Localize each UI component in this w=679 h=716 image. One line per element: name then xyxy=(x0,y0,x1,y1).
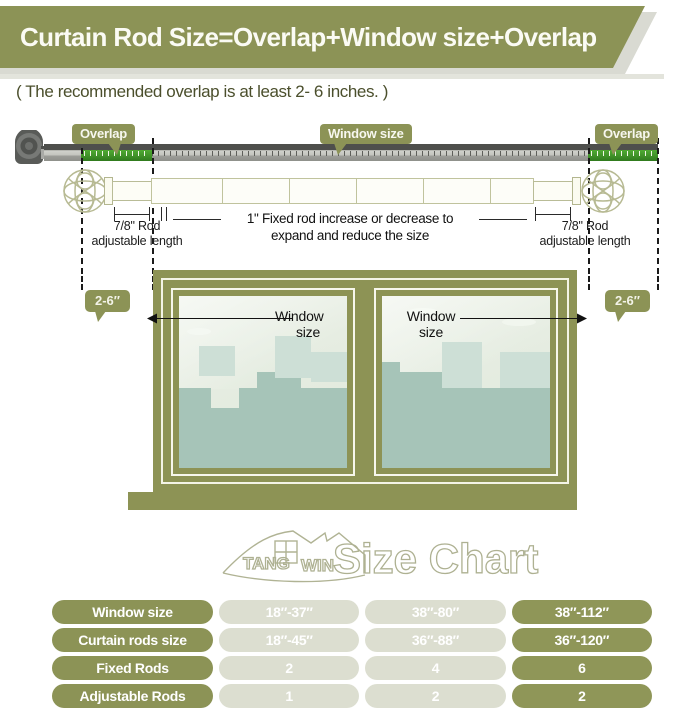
guide-line-lower-left-a xyxy=(81,268,83,290)
rod-segment-2 xyxy=(222,178,290,204)
window-size-label-right: Window size xyxy=(398,308,464,340)
callout-window-size-top-label: Window size xyxy=(328,126,404,141)
window-size-leader-left xyxy=(152,318,292,319)
table-cell: 2 xyxy=(512,684,652,708)
rod-segment-4 xyxy=(356,178,424,204)
callout-tail xyxy=(95,311,106,322)
table-row-header: Curtain rods size xyxy=(52,628,213,652)
arrow-right-icon xyxy=(575,313,587,324)
callout-tail xyxy=(334,143,347,155)
table-row: Window size18″-37″38″-80″38″-112″ xyxy=(52,600,652,624)
rod-segment-5 xyxy=(423,178,491,204)
callout-tail xyxy=(108,143,121,155)
window-size-label-left-line1: Window xyxy=(275,308,365,324)
logo-brand-right: WIN xyxy=(301,556,334,575)
label-fixed-rod-line2: expand and reduce the size xyxy=(215,227,485,244)
callout-overlap-right-label: Overlap xyxy=(603,126,650,141)
house-logo-icon: TANG WIN Size Chart xyxy=(215,525,545,587)
label-adjustable-left-line1: 7/8" Rod xyxy=(62,219,212,234)
banner-ribbon: Curtain Rod Size=Overlap+Window size+Ove… xyxy=(0,6,645,68)
window-size-label-right-line2: size xyxy=(398,324,464,340)
page-title: Curtain Rod Size=Overlap+Window size+Ove… xyxy=(0,22,597,53)
table-cell: 38″-80″ xyxy=(365,600,505,624)
table-cell: 38″-112″ xyxy=(512,600,652,624)
label-fixed-rod-line1: 1" Fixed rod increase or decrease to xyxy=(215,210,485,227)
table-cell: 36″-88″ xyxy=(365,628,505,652)
table-cell: 1 xyxy=(219,684,359,708)
callout-gap-right: 2-6″ xyxy=(605,290,650,312)
table-cell: 36″-120″ xyxy=(512,628,652,652)
dim-line-left xyxy=(114,214,150,215)
table-cell: 4 xyxy=(365,656,505,680)
callout-gap-left: 2-6″ xyxy=(85,290,130,312)
logo-title: Size Chart xyxy=(333,535,538,582)
finial-left-icon xyxy=(62,168,108,214)
rod-segment-1 xyxy=(151,178,223,204)
callout-tail xyxy=(609,143,622,155)
guide-line-lower-right-b xyxy=(657,268,659,290)
dim-line-right xyxy=(535,214,571,215)
fixed-rod-leader-right xyxy=(479,219,527,220)
callout-gap-left-label: 2-6″ xyxy=(95,293,120,308)
rod-adjustable-right xyxy=(533,181,573,201)
table-cell: 2 xyxy=(365,684,505,708)
label-adjustable-right: 7/8" Rod adjustable length xyxy=(510,219,660,249)
rod-segment-3 xyxy=(289,178,357,204)
callout-overlap-right: Overlap xyxy=(595,124,658,144)
label-adjustable-right-line1: 7/8" Rod xyxy=(510,219,660,234)
table-row: Adjustable Rods122 xyxy=(52,684,652,708)
guide-line-lower-right-a xyxy=(588,268,590,290)
table-cell: 6 xyxy=(512,656,652,680)
label-adjustable-left: 7/8" Rod adjustable length xyxy=(62,219,212,249)
table-cell: 18″-37″ xyxy=(219,600,359,624)
subtitle-text: ( The recommended overlap is at least 2-… xyxy=(16,82,388,102)
logo-brand-left: TANG xyxy=(243,554,290,573)
callout-tail xyxy=(615,311,626,322)
size-chart-table: Window size18″-37″38″-80″38″-112″Curtain… xyxy=(52,600,652,712)
table-cell: 2 xyxy=(219,656,359,680)
window-sill xyxy=(128,492,577,510)
table-row: Curtain rods size18″-45″36″-88″36″-120″ xyxy=(52,628,652,652)
label-adjustable-right-line2: adjustable length xyxy=(510,234,660,249)
table-row-header: Window size xyxy=(52,600,213,624)
table-row-header: Fixed Rods xyxy=(52,656,213,680)
rod-adjustable-left xyxy=(112,181,152,201)
label-adjustable-left-line2: adjustable length xyxy=(62,234,212,249)
brand-logo: TANG WIN Size Chart xyxy=(215,525,545,587)
header-banner: Curtain Rod Size=Overlap+Window size+Ove… xyxy=(0,6,679,68)
callout-gap-right-label: 2-6″ xyxy=(615,293,640,308)
table-row-header: Adjustable Rods xyxy=(52,684,213,708)
table-row: Fixed Rods246 xyxy=(52,656,652,680)
window-size-label-left: Window size xyxy=(275,308,365,340)
tape-overlap-right-highlight xyxy=(588,150,658,161)
arrow-left-icon xyxy=(147,313,159,324)
label-fixed-rod: 1" Fixed rod increase or decrease to exp… xyxy=(215,210,485,244)
window-size-label-left-line2: size xyxy=(275,324,341,340)
callout-window-size-top: Window size xyxy=(320,124,412,144)
infographic-page: Curtain Rod Size=Overlap+Window size+Ove… xyxy=(0,0,679,716)
window-size-label-right-line1: Window xyxy=(398,308,464,324)
banner-underline xyxy=(0,74,664,79)
callout-overlap-left: Overlap xyxy=(72,124,135,144)
fixed-rod-leader-left xyxy=(173,219,221,220)
table-cell: 18″-45″ xyxy=(219,628,359,652)
finial-right-icon xyxy=(580,168,626,214)
rod-segment-6 xyxy=(490,178,534,204)
window-size-leader-right xyxy=(460,318,580,319)
callout-overlap-left-label: Overlap xyxy=(80,126,127,141)
